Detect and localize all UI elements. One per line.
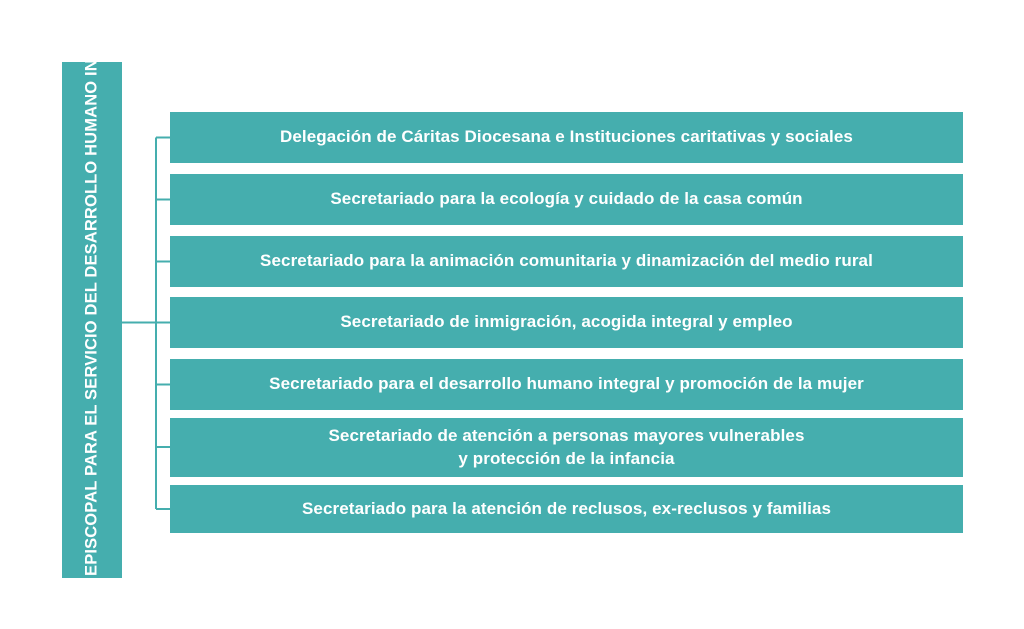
org-node-6-label: Secretariado de atención a personas mayo… bbox=[328, 425, 804, 471]
org-node-4-label: Secretariado de inmigración, acogida int… bbox=[340, 311, 792, 334]
org-node-6[interactable]: Secretariado de atención a personas mayo… bbox=[170, 418, 963, 477]
org-node-2[interactable]: Secretariado para la ecología y cuidado … bbox=[170, 174, 963, 225]
org-chart-diagram: VICARíA EPISCOPAL PARA EL SERVICIO DEL D… bbox=[0, 0, 1024, 629]
org-node-5-label: Secretariado para el desarrollo humano i… bbox=[269, 373, 864, 396]
org-node-1[interactable]: Delegación de Cáritas Diocesana e Instit… bbox=[170, 112, 963, 163]
org-node-3-label: Secretariado para la animación comunitar… bbox=[260, 250, 873, 273]
org-node-4[interactable]: Secretariado de inmigración, acogida int… bbox=[170, 297, 963, 348]
org-node-7[interactable]: Secretariado para la atención de recluso… bbox=[170, 485, 963, 533]
org-node-7-label: Secretariado para la atención de recluso… bbox=[302, 498, 831, 521]
org-node-5[interactable]: Secretariado para el desarrollo humano i… bbox=[170, 359, 963, 410]
root-node-bar: VICARíA EPISCOPAL PARA EL SERVICIO DEL D… bbox=[62, 62, 122, 578]
org-node-2-label: Secretariado para la ecología y cuidado … bbox=[330, 188, 802, 211]
org-node-1-label: Delegación de Cáritas Diocesana e Instit… bbox=[280, 126, 853, 149]
root-node-label: VICARíA EPISCOPAL PARA EL SERVICIO DEL D… bbox=[81, 0, 102, 629]
org-node-3[interactable]: Secretariado para la animación comunitar… bbox=[170, 236, 963, 287]
